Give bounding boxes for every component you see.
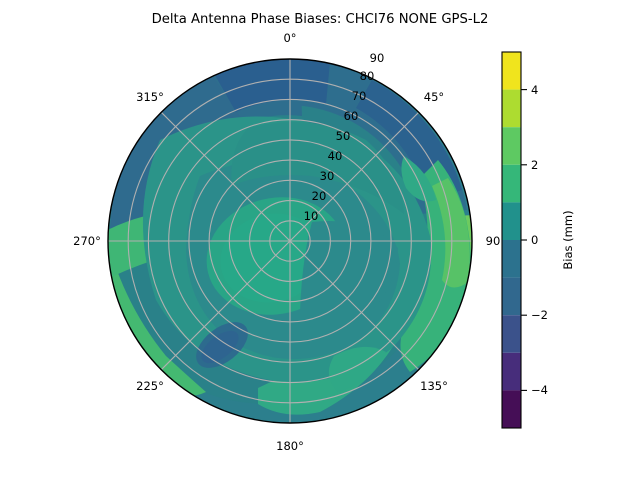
colorbar-tick-label-neg2: −2 [531,308,548,322]
colorbar-band-1 [502,353,521,391]
colorbar-axis-title: Bias (mm) [561,210,575,269]
radial-tick-20: 20 [312,189,327,203]
colorbar-band-9 [502,52,521,90]
colorbar-band-0 [502,390,521,428]
radial-tick-10: 10 [304,209,319,223]
radial-tick-80: 80 [360,69,375,83]
angular-tick-135: 135° [420,379,448,393]
angular-tick-225: 225° [136,379,164,393]
radial-tick-40: 40 [328,149,343,163]
angular-tick-270: 270° [73,234,101,248]
radial-tick-30: 30 [320,169,335,183]
colorbar-tick-label-2: 2 [531,158,538,172]
colorbar-band-2 [502,315,521,353]
angular-tick-180: 180° [276,439,304,453]
angular-tick-90: 90 [486,234,501,248]
colorbar-band-7 [502,127,521,165]
radial-tick-60: 60 [344,109,359,123]
colorbar-band-5 [502,202,521,240]
angular-tick-0: 0° [283,31,296,45]
page-title: Delta Antenna Phase Biases: CHCI76 NONE … [152,12,489,27]
angular-tick-315: 315° [136,90,164,104]
colorbar-band-4 [502,240,521,278]
colorbar-tick-label-4: 4 [531,83,538,97]
angular-tick-45: 45° [424,90,444,104]
colorbar-tick-label-neg4: −4 [531,383,548,397]
colorbar-band-3 [502,278,521,316]
polar-contour-figure: Delta Antenna Phase Biases: CHCI76 NONE … [0,0,640,480]
radial-tick-70: 70 [352,89,367,103]
radial-tick-90: 90 [370,51,385,65]
colorbar-bands [502,52,521,428]
colorbar-band-8 [502,90,521,128]
radial-tick-50: 50 [336,129,351,143]
colorbar-tick-label-0: 0 [531,233,538,247]
polar-grid [108,59,472,423]
colorbar-band-6 [502,165,521,203]
